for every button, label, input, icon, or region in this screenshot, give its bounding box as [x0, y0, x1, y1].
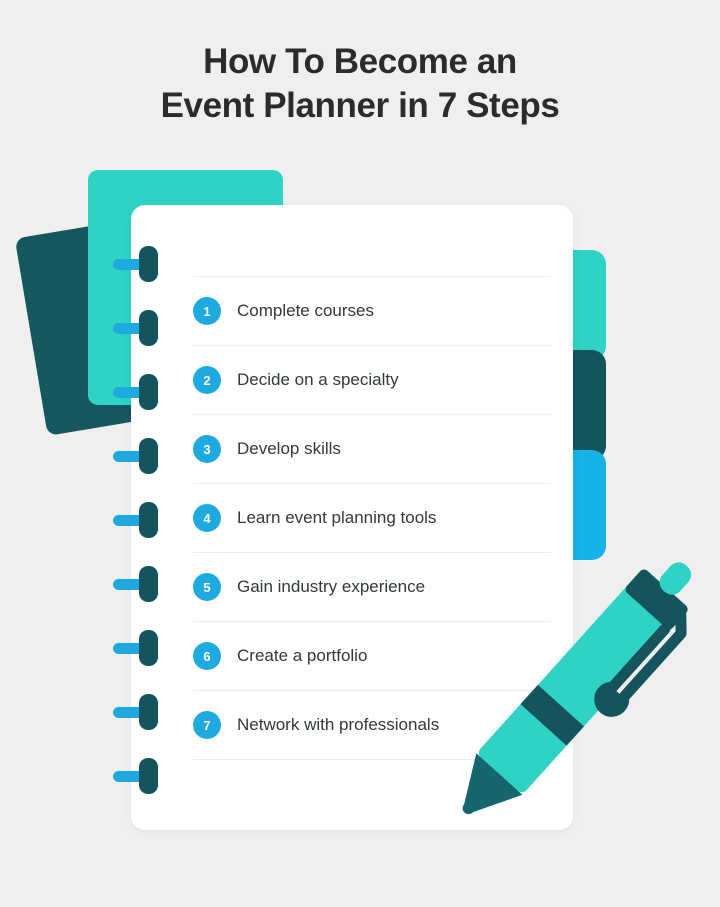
step-label: Network with professionals: [237, 715, 439, 735]
pen-icon: [440, 515, 710, 865]
infographic-canvas: How To Become an Event Planner in 7 Step…: [0, 0, 720, 907]
page-title: How To Become an Event Planner in 7 Step…: [0, 40, 720, 128]
step-label: Complete courses: [237, 301, 374, 321]
list-item[interactable]: 2 Decide on a specialty: [193, 346, 551, 414]
step-number-badge: 7: [193, 711, 221, 739]
step-number-badge: 5: [193, 573, 221, 601]
step-label: Create a portfolio: [237, 646, 367, 666]
step-label: Gain industry experience: [237, 577, 425, 597]
title-line-2: Event Planner in 7 Steps: [0, 84, 720, 128]
step-number-badge: 4: [193, 504, 221, 532]
step-number-badge: 1: [193, 297, 221, 325]
step-number-badge: 3: [193, 435, 221, 463]
step-label: Develop skills: [237, 439, 341, 459]
step-label: Learn event planning tools: [237, 508, 436, 528]
list-item[interactable]: 1 Complete courses: [193, 277, 551, 345]
list-item[interactable]: 3 Develop skills: [193, 415, 551, 483]
step-label: Decide on a specialty: [237, 370, 399, 390]
title-line-1: How To Become an: [0, 40, 720, 84]
step-number-badge: 2: [193, 366, 221, 394]
step-number-badge: 6: [193, 642, 221, 670]
